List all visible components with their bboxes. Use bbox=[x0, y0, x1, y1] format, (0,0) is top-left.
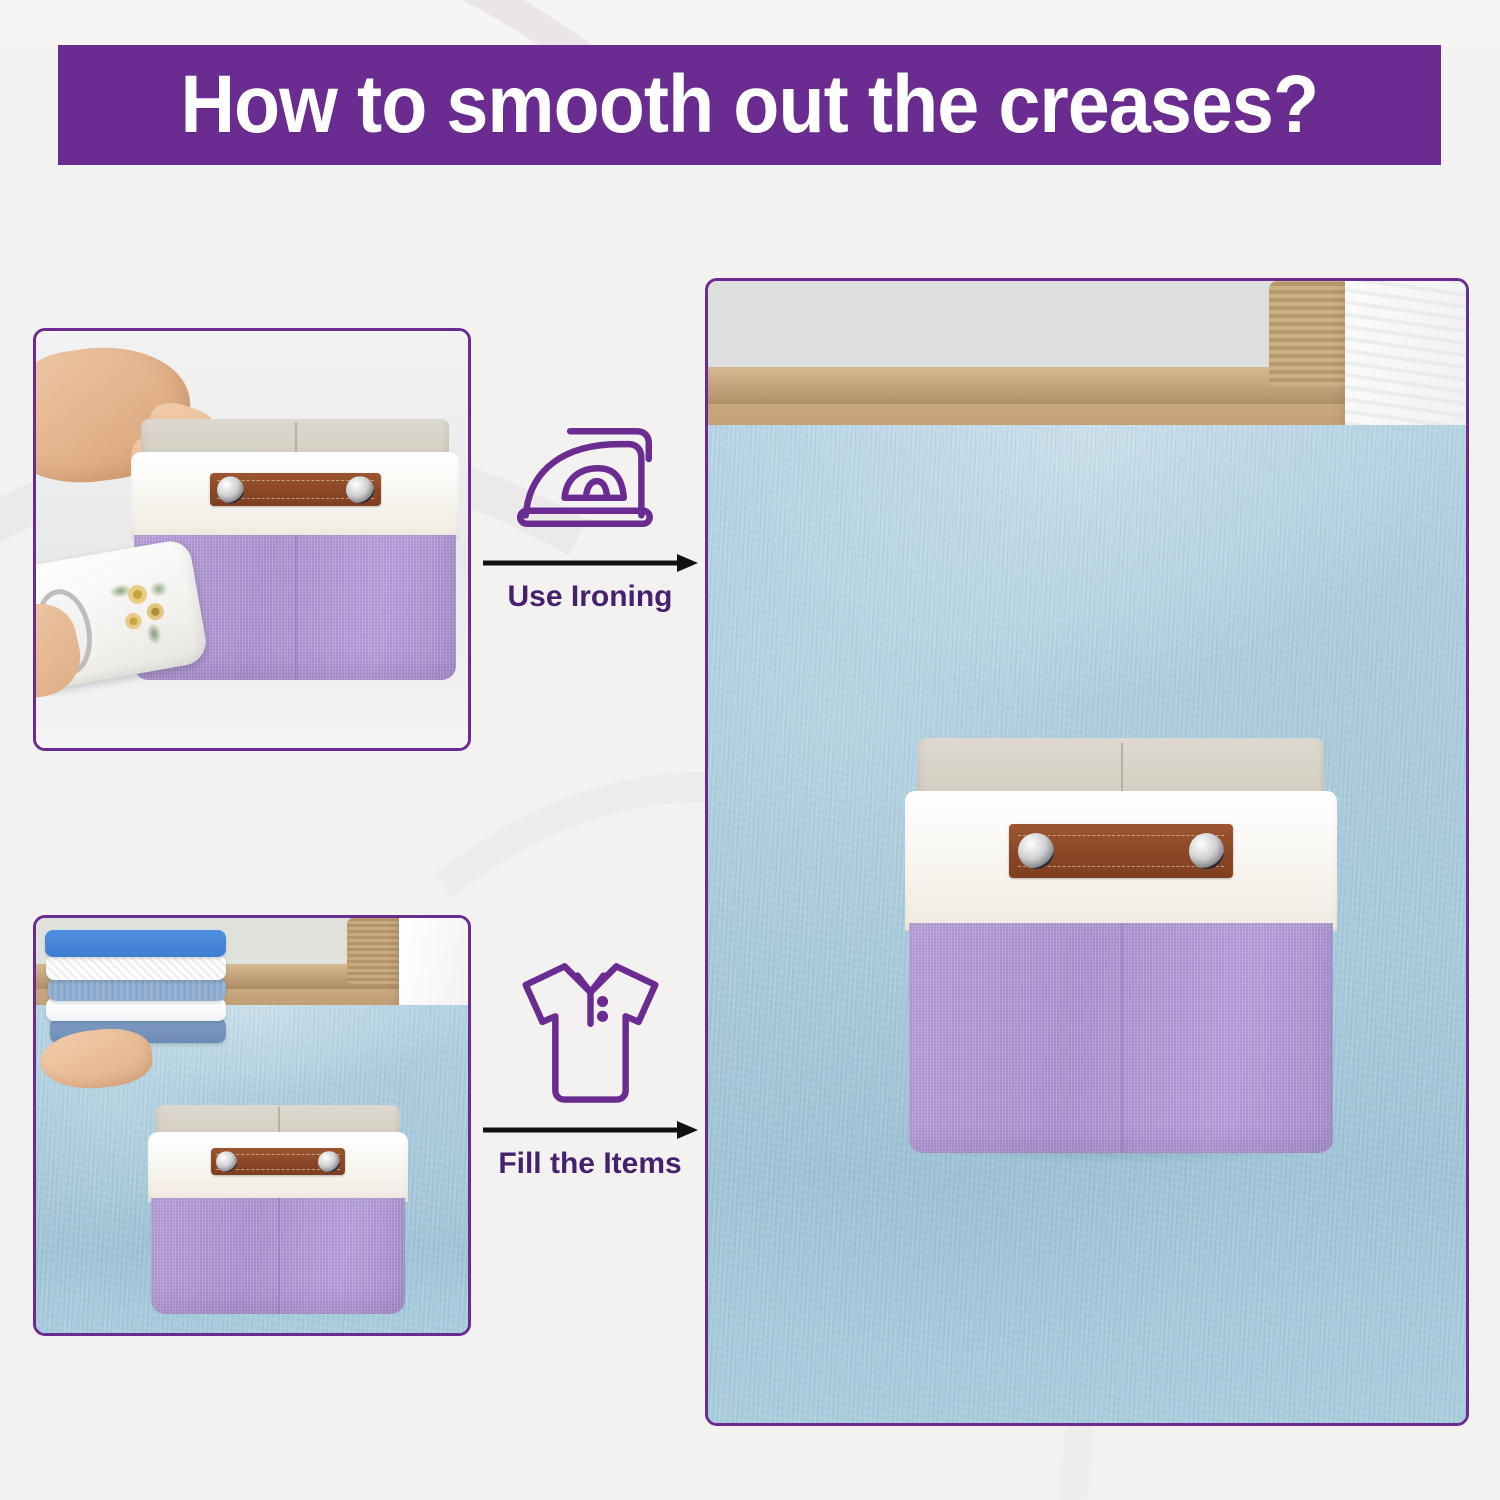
folded-cloth bbox=[48, 978, 226, 1001]
step-use-ironing: Use Ironing bbox=[465, 418, 715, 614]
handle-grommet bbox=[1189, 833, 1225, 869]
basket-seam bbox=[1121, 923, 1123, 1153]
basket-seam bbox=[295, 535, 297, 680]
page-title: How to smooth out the creases? bbox=[181, 64, 1319, 146]
handle-stitching bbox=[1018, 866, 1225, 867]
basket-seam bbox=[278, 1198, 280, 1314]
handle-grommet bbox=[1018, 833, 1054, 869]
arrow-right-icon bbox=[483, 552, 698, 574]
storage-basket bbox=[905, 738, 1337, 1149]
step-caption: Fill the Items bbox=[498, 1147, 681, 1181]
handle-grommet bbox=[216, 1151, 238, 1173]
handle-stitching bbox=[1018, 835, 1225, 836]
folded-cloth bbox=[45, 930, 226, 957]
leather-handle bbox=[210, 473, 381, 507]
header-banner: How to smooth out the creases? bbox=[58, 45, 1441, 165]
sunflower-decal bbox=[103, 563, 188, 654]
step-fill-the-items: Fill the Items bbox=[465, 950, 715, 1181]
folded-cloth bbox=[46, 955, 226, 981]
scene-main bbox=[708, 281, 1466, 1423]
basket-purple-body bbox=[151, 1198, 405, 1314]
photo-use-ironing bbox=[33, 328, 471, 751]
scene-fill-items bbox=[36, 918, 468, 1333]
leather-handle bbox=[1009, 824, 1234, 877]
folded-clothes-stack bbox=[45, 930, 226, 1046]
photo-main-product bbox=[705, 278, 1469, 1426]
polo-shirt-icon bbox=[498, 950, 683, 1115]
arrow-right-icon bbox=[483, 1119, 698, 1141]
step-caption: Use Ironing bbox=[507, 580, 672, 614]
iron-icon bbox=[498, 418, 683, 548]
folded-cloth bbox=[46, 998, 226, 1021]
scene-ironing bbox=[36, 331, 468, 748]
leather-handle bbox=[211, 1148, 346, 1175]
basket-purple-body bbox=[909, 923, 1332, 1153]
storage-basket bbox=[148, 1105, 407, 1313]
photo-fill-the-items bbox=[33, 915, 471, 1336]
handle-grommet bbox=[318, 1151, 340, 1173]
